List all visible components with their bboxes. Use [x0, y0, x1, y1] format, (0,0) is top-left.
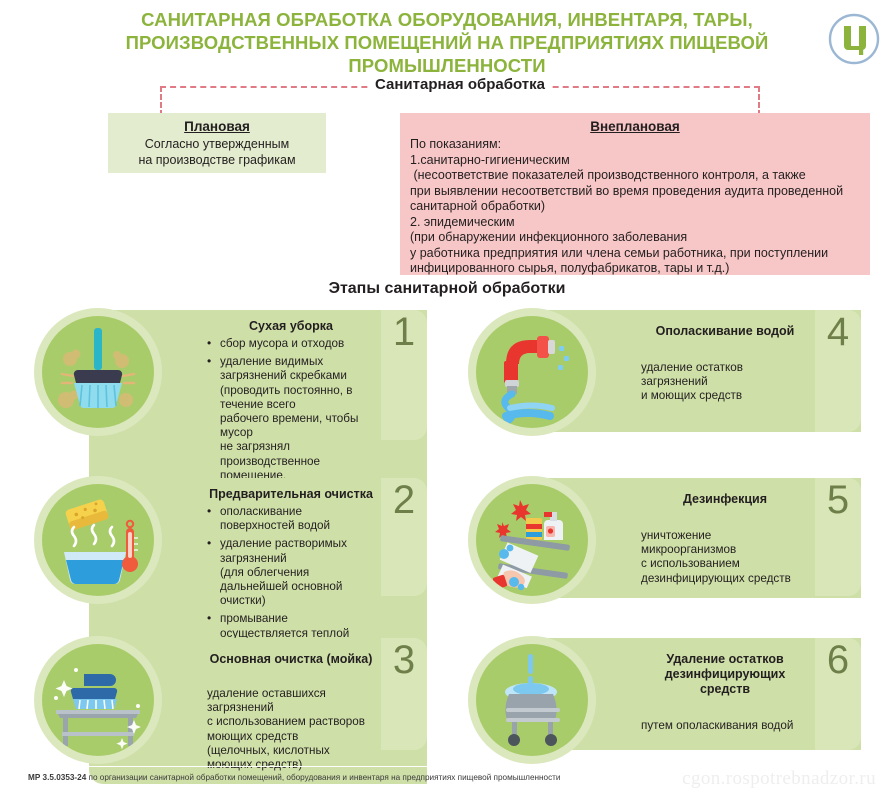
broom-icon [42, 316, 154, 428]
connector-label: Санитарная обработка [368, 76, 552, 93]
text-line: 1.санитарно-гигиеническим [410, 153, 860, 169]
text-line: (несоответствие показателей производстве… [410, 168, 860, 184]
box-planned: Плановая Согласно утвержденным на произв… [108, 113, 326, 173]
text-line: (при обнаружении инфекционного заболеван… [410, 230, 860, 246]
box-unplanned: Внеплановая По показаниям: 1.санитарно-г… [400, 113, 870, 275]
infographic-page: САНИТАРНАЯ ОБРАБОТКА ОБОРУДОВАНИЯ, ИНВЕН… [0, 0, 894, 800]
stage-card-4-text: удаление остатков загрязнений и моющих с… [641, 361, 809, 404]
stage-number-tab: 2 [381, 478, 427, 596]
stage-card-4-title: Ополаскивание водой [641, 324, 809, 339]
footer-divider [28, 766, 868, 767]
list-item: сбор мусора и отходов [207, 337, 375, 351]
stage-number: 6 [815, 638, 861, 682]
connector-left-drop [160, 86, 162, 116]
text-line: инфицированного сырья, полуфабрикатов, т… [410, 261, 860, 277]
stage-number: 4 [815, 310, 861, 354]
stage-card-2-title: Предварительная очистка [207, 487, 375, 502]
disinfect-spray-icon [476, 484, 588, 596]
text-line: ополаскивание поверхностей водой [220, 505, 375, 533]
box-unplanned-title: Внеплановая [410, 119, 860, 134]
stage-card-1-title: Сухая уборка [207, 319, 375, 334]
text-line: уничтожение микроорганизмов [641, 529, 809, 557]
text-line: По показаниям: [410, 137, 860, 153]
text-line: путем ополаскивания водой [641, 719, 809, 733]
text-line: Удаление остатков [666, 652, 783, 666]
brush-table-icon [42, 644, 154, 756]
stage-card-6-text: путем ополаскивания водой [641, 719, 809, 733]
text-line: Согласно утвержденным [118, 137, 316, 153]
text-line: с использованием растворов моющих средст… [207, 715, 375, 743]
stage-card-3-illustration [34, 636, 162, 764]
stage-card-6-title: Удаление остатков дезинфицирующих средст… [641, 652, 809, 697]
stage-card-5-illustration [468, 476, 596, 604]
list-item: удаление растворимых загрязнений (для об… [207, 537, 375, 608]
text-line: сбор мусора и отходов [220, 337, 375, 351]
header: САНИТАРНАЯ ОБРАБОТКА ОБОРУДОВАНИЯ, ИНВЕН… [0, 8, 894, 77]
stage-card-3-text: удаление оставшихся загрязнений с исполь… [207, 687, 375, 772]
text-line: на производстве графикам [118, 153, 316, 169]
box-planned-title: Плановая [118, 119, 316, 134]
text-line: и моющих средств [641, 389, 809, 403]
text-line: 2. эпидемическим [410, 215, 860, 231]
text-line: (щелочных, кислотных моющих средств) [207, 744, 375, 772]
footer-text: по организации санитарной обработки поме… [86, 773, 560, 782]
stage-card-6-illustration [468, 636, 596, 764]
text-line: удаление остатков загрязнений [641, 361, 809, 389]
text-line: (для облегчения дальнейшей основной [220, 566, 375, 594]
list-item: ополаскивание поверхностей водой [207, 505, 375, 533]
text-line: санитарной обработки) [410, 199, 860, 215]
sponge-basin-icon [42, 484, 154, 596]
stage-number-tab: 1 [381, 310, 427, 440]
stage-number-tab: 4 [815, 310, 861, 432]
stage-card-5-text: уничтожение микроорганизмов с использова… [641, 529, 809, 586]
water-rinse-equipment-icon [476, 644, 588, 756]
text-line: рабочего времени, чтобы мусор [220, 412, 375, 440]
text-line: не загрязнял производственное помещение, [220, 440, 375, 483]
cgon-logo [828, 13, 880, 65]
text-line: промывание осуществляется теплой [220, 612, 375, 640]
section-title: Этапы санитарной обработки [0, 280, 894, 298]
text-line: дезинфицирующих средств [665, 667, 786, 696]
stage-number: 5 [815, 478, 861, 522]
text-line: очистки) [220, 594, 375, 608]
stage-number-tab: 6 [815, 638, 861, 750]
footer-note: МР 3.5.0353-24 по организации санитарной… [28, 772, 728, 783]
stage-number: 3 [381, 638, 427, 682]
stage-number-tab: 3 [381, 638, 427, 750]
watermark: cgon.rospotrebnadzor.ru [682, 768, 876, 790]
text-line: удаление растворимых загрязнений [220, 537, 375, 565]
text-line: удаление оставшихся загрязнений [207, 687, 375, 715]
connector-bracket: Санитарная обработка [150, 78, 770, 118]
text-line: при выявлении несоответствий во время пр… [410, 184, 860, 200]
connector-right-drop [758, 86, 760, 116]
stage-card-3-title: Основная очистка (мойка) [207, 652, 375, 667]
stage-card-2-illustration [34, 476, 162, 604]
stage-card-4-illustration [468, 308, 596, 436]
text-line: с использованием дезинфицирующих средств [641, 557, 809, 585]
page-title: САНИТАРНАЯ ОБРАБОТКА ОБОРУДОВАНИЯ, ИНВЕН… [52, 8, 842, 77]
box-planned-body: Согласно утвержденным на производстве гр… [118, 137, 316, 168]
box-unplanned-body: По показаниям: 1.санитарно-гигиеническим… [410, 137, 860, 277]
text-line: у работника предприятия или члена семьи … [410, 246, 860, 262]
text-line: (проводить постоянно, в течение всего [220, 384, 375, 412]
footer-code: МР 3.5.0353-24 [28, 773, 86, 782]
stage-number-tab: 5 [815, 478, 861, 596]
stage-number: 1 [381, 310, 427, 354]
stage-card-5-title: Дезинфекция [641, 492, 809, 507]
hose-tap-icon [476, 316, 588, 428]
stage-card-1-illustration [34, 308, 162, 436]
text-line: удаление видимых загрязнений скребками [220, 355, 375, 383]
stage-number: 2 [381, 478, 427, 522]
